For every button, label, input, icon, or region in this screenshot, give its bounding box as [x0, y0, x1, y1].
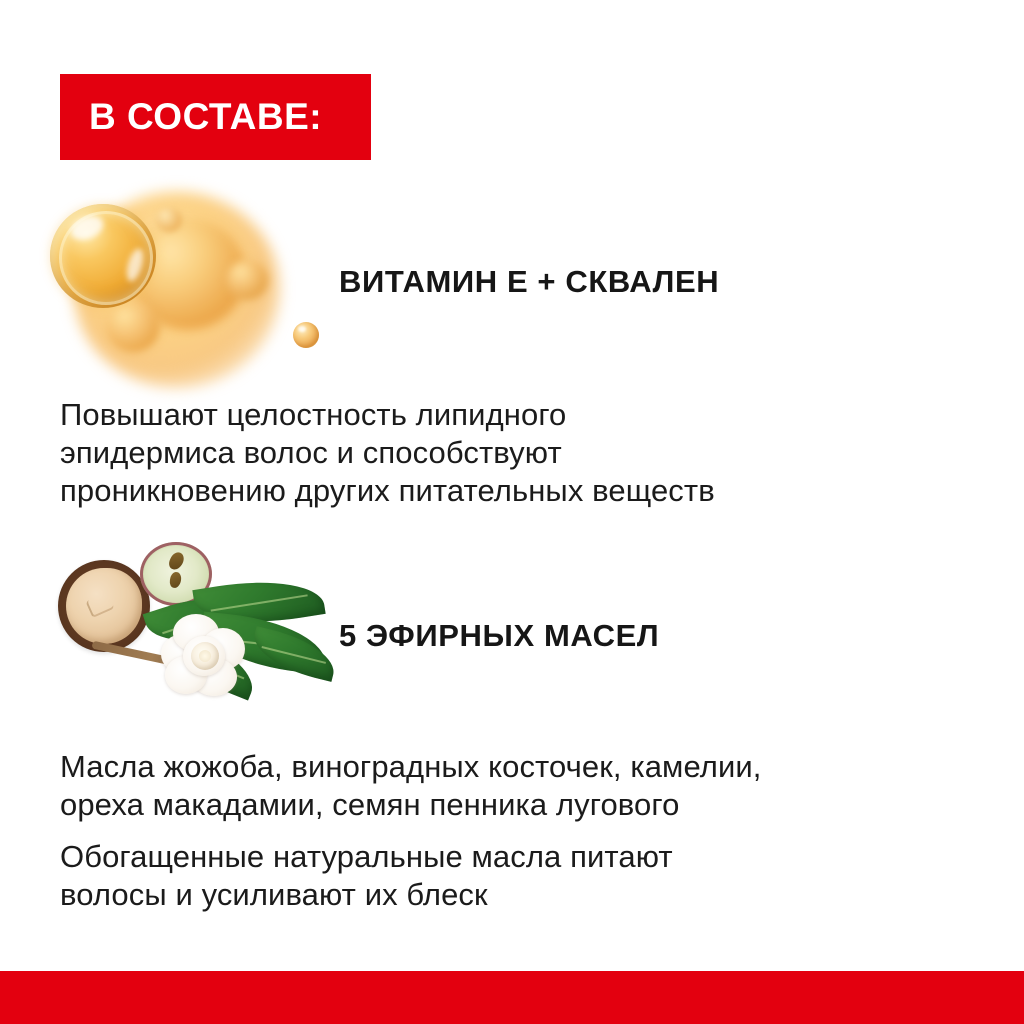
oil-bubble-highlight — [124, 247, 147, 284]
macadamia-grape-camellia-image — [55, 540, 335, 715]
oil-bubble-small-top — [156, 208, 182, 232]
oil-bubble-small-left — [106, 300, 160, 352]
footer-red-bar — [0, 971, 1024, 1024]
macadamia-nut-icon — [58, 560, 150, 652]
oil-droplets-image — [28, 182, 328, 372]
section-body-vitamin-e: Повышают целостность липидного эпидермис… — [60, 396, 990, 510]
section-body-essential-oils-benefit: Обогащенные натуральные масла питают вол… — [60, 838, 960, 914]
oil-bubble-hero — [50, 204, 156, 308]
leaf-vein — [211, 594, 307, 611]
ingredients-banner: В СОСТАВЕ: — [60, 74, 371, 160]
oil-droplet-tiny — [293, 322, 319, 348]
oil-bubble-small-right — [226, 260, 268, 300]
camellia-flower-icon — [161, 614, 247, 700]
section-heading-essential-oils: 5 ЭФИРНЫХ МАСЕЛ — [339, 618, 659, 654]
flower-center — [191, 642, 219, 670]
section-heading-vitamin-e: ВИТАМИН Е + СКВАЛЕН — [339, 264, 719, 300]
ingredients-infographic-page: В СОСТАВЕ: ВИТАМИН Е + СКВАЛЕН Повышают … — [0, 0, 1024, 1024]
section-body-essential-oils-list: Масла жожоба, виноградных косточек, каме… — [60, 748, 1000, 824]
banner-title: В СОСТАВЕ: — [60, 96, 322, 138]
